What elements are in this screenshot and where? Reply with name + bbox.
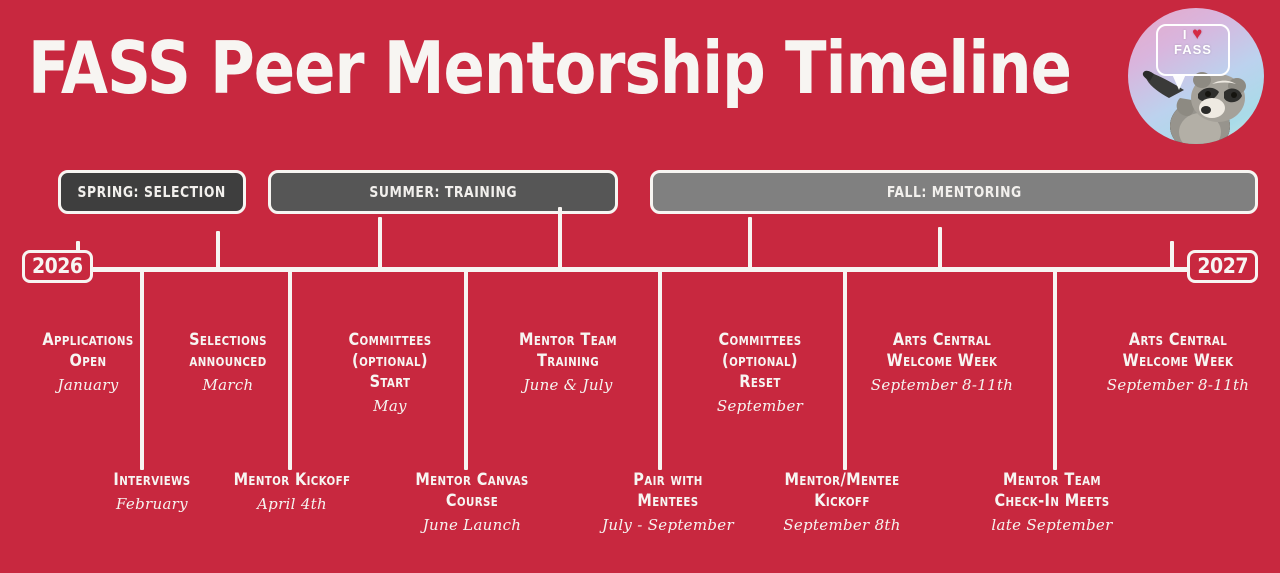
event-date: June & July — [488, 376, 648, 394]
event-date: September 8th — [762, 516, 922, 534]
fass-logo-badge: I ♥ FASS — [1128, 8, 1264, 144]
timeline-tick — [843, 270, 847, 470]
event-date: late September — [972, 516, 1132, 534]
event-date: September 8-11th — [862, 376, 1022, 394]
phase-bar-2[interactable]: SUMMER: TRAINING — [268, 170, 618, 214]
header: FASS Peer Mentorship Timeline — [0, 0, 1280, 160]
event-below-2[interactable]: Mentor KickoffApril 4th — [212, 470, 372, 513]
timeline-tick — [464, 270, 468, 470]
timeline-axis-group: 2026 2027 — [0, 240, 1280, 300]
event-date: April 4th — [212, 495, 372, 513]
event-above-3[interactable]: Committees(optional)StartMay — [310, 330, 470, 415]
phase-bar-group: SPRING: SELECTIONSUMMER: TRAININGFALL: M… — [0, 170, 1280, 218]
timeline-tick — [748, 217, 752, 269]
event-date: March — [148, 376, 308, 394]
event-title: Mentor TeamTraining — [492, 330, 644, 372]
timeline-axis-line — [28, 267, 1252, 272]
phase-bar-label: SUMMER: TRAINING — [369, 183, 517, 201]
timeline-tick — [140, 270, 144, 470]
event-date: July - September — [588, 516, 748, 534]
event-title: Mentor CanvasCourse — [396, 470, 548, 512]
logo-text: I ♥ FASS — [1156, 26, 1230, 57]
year-marker-end: 2027 — [1187, 250, 1258, 283]
event-title: Committees(optional)Reset — [684, 330, 836, 393]
logo-line-i: I — [1183, 27, 1188, 42]
event-below-1[interactable]: InterviewsFebruary — [72, 470, 232, 513]
event-date: June Launch — [392, 516, 552, 534]
event-above-4[interactable]: Mentor TeamTrainingJune & July — [488, 330, 648, 394]
phase-bar-1[interactable]: SPRING: SELECTION — [58, 170, 246, 214]
event-title: Pair withMentees — [592, 470, 744, 512]
event-title: Committees(optional)Start — [314, 330, 466, 393]
event-date: September — [680, 397, 840, 415]
event-below-4[interactable]: Pair withMenteesJuly - September — [588, 470, 748, 534]
timeline-tick — [658, 270, 662, 470]
timeline-tick — [938, 227, 942, 269]
event-title: Selectionsannounced — [152, 330, 304, 372]
event-below-6[interactable]: Mentor TeamCheck-In Meetslate September — [972, 470, 1132, 534]
heart-icon: ♥ — [1192, 24, 1203, 43]
event-title: Mentor TeamCheck-In Meets — [976, 470, 1128, 512]
event-above-5[interactable]: Committees(optional)ResetSeptember — [680, 330, 840, 415]
year-marker-start: 2026 — [22, 250, 93, 283]
event-title: Interviews — [76, 470, 228, 491]
phase-bar-3[interactable]: FALL: MENTORING — [650, 170, 1258, 214]
event-date: January — [8, 376, 168, 394]
timeline-tick — [216, 231, 220, 269]
timeline-tick — [378, 217, 382, 269]
speech-bubble-tail — [1172, 74, 1186, 90]
event-date: September 8-11th — [1098, 376, 1258, 394]
logo-line-fass: FASS — [1174, 42, 1212, 57]
event-date: February — [72, 495, 232, 513]
page-title: FASS Peer Mentorship Timeline — [28, 26, 1043, 110]
event-above-6[interactable]: Arts CentralWelcome WeekSeptember 8-11th — [862, 330, 1022, 394]
event-title: Mentor/MenteeKickoff — [766, 470, 918, 512]
phase-bar-label: SPRING: SELECTION — [78, 183, 226, 201]
event-title: Arts CentralWelcome Week — [1102, 330, 1254, 372]
event-above-2[interactable]: SelectionsannouncedMarch — [148, 330, 308, 394]
event-below-3[interactable]: Mentor CanvasCourseJune Launch — [392, 470, 552, 534]
timeline-tick — [1053, 270, 1057, 470]
phase-bar-label: FALL: MENTORING — [887, 183, 1022, 201]
event-below-5[interactable]: Mentor/MenteeKickoffSeptember 8th — [762, 470, 922, 534]
event-title: Arts CentralWelcome Week — [866, 330, 1018, 372]
timeline-tick — [558, 207, 562, 269]
event-above-1[interactable]: ApplicationsOpenJanuary — [8, 330, 168, 394]
timeline-tick — [1170, 241, 1174, 269]
event-date: May — [310, 397, 470, 415]
event-above-7[interactable]: Arts CentralWelcome WeekSeptember 8-11th — [1098, 330, 1258, 394]
event-title: Mentor Kickoff — [216, 470, 368, 491]
timeline-tick — [288, 270, 292, 470]
